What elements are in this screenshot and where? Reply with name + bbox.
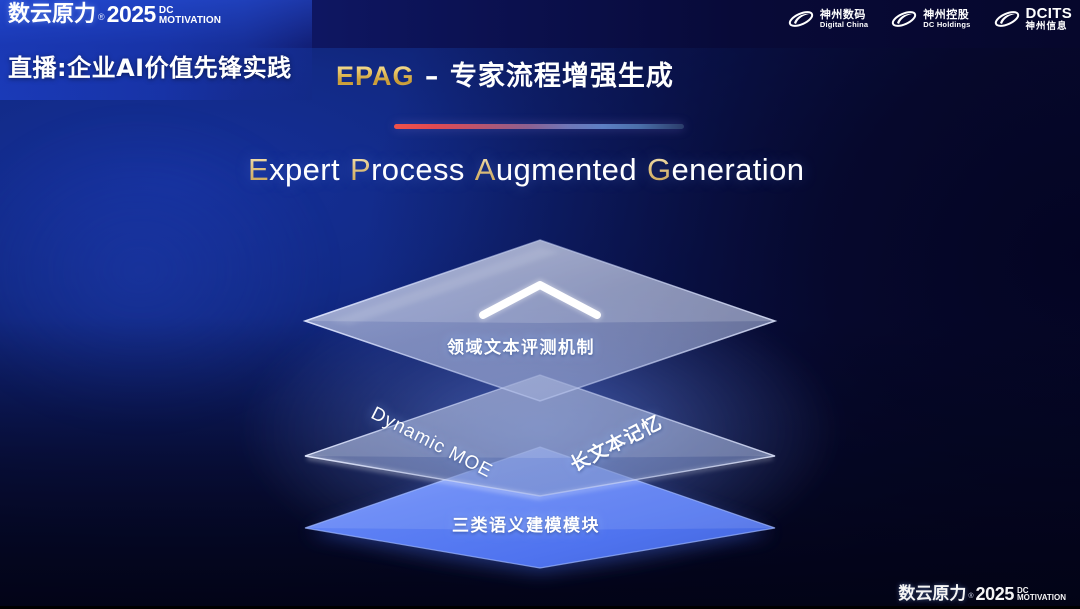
subtitle-word-1-rest: xpert (269, 152, 340, 187)
brand-logo-year: 2025 (107, 3, 156, 26)
subtitle-word-3-initial: A (475, 152, 496, 187)
subtitle-word-2-rest: rocess (371, 152, 465, 187)
subtitle-word-2-initial: P (350, 152, 371, 187)
swirl-logo-icon (890, 8, 918, 30)
subtitle-word-1-initial: E (248, 152, 269, 187)
watermark-dc-motivation: DC MOTIVATION (1017, 587, 1066, 603)
slide-canvas: 数云原力 ® 2025 DC MOTIVATION 直播:企业AI价值先锋实践 … (0, 0, 1080, 609)
page-title-acronym: EPAG (336, 61, 415, 91)
partner-logo-row: 神州数码 Digital China 神州控股 DC Holdings (787, 6, 1072, 32)
watermark-cn: 数云原力 (898, 586, 966, 603)
title-divider (394, 124, 684, 129)
partner-name-en: DCITS (1026, 6, 1073, 22)
page-title: EPAG – 专家流程增强生成 (336, 54, 674, 93)
partner-name-en: DC Holdings (923, 21, 970, 29)
brand-logo: 数云原力 ® 2025 DC MOTIVATION (8, 3, 221, 26)
swirl-logo-icon (787, 8, 815, 30)
partner-name-en: Digital China (820, 21, 868, 29)
footer-watermark-logo: 数云原力 ® 2025 DC MOTIVATION (898, 585, 1066, 603)
partner-logo-dc-holdings: 神州控股 DC Holdings (890, 8, 970, 30)
partner-logo-digital-china: 神州数码 Digital China (787, 8, 868, 30)
subtitle: ExpertProcessAugmentedGeneration (248, 152, 804, 188)
watermark-year: 2025 (976, 585, 1014, 603)
partner-name-cn: 神州数码 (820, 9, 868, 21)
watermark-registered: ® (968, 590, 973, 603)
brand-logo-cn: 数云原力 (8, 4, 96, 26)
partner-logo-text: DCITS 神州信息 (1026, 6, 1073, 32)
subtitle-word-4-initial: G (647, 152, 672, 187)
brand-logo-dc-motivation: DC MOTIVATION (159, 6, 221, 26)
partner-logo-text: 神州控股 DC Holdings (923, 9, 970, 28)
live-stream-title: 直播:企业AI价值先锋实践 (8, 48, 292, 83)
partner-logo-text: 神州数码 Digital China (820, 9, 868, 28)
watermark-dc-line2: MOTIVATION (1017, 594, 1066, 602)
partner-logo-dcits: DCITS 神州信息 (993, 6, 1073, 32)
swirl-logo-icon (993, 8, 1021, 30)
brand-logo-dc-line2: MOTIVATION (159, 16, 221, 26)
brand-logo-registered: ® (98, 9, 105, 26)
subtitle-word-3-rest: ugmented (496, 152, 637, 187)
page-title-chinese: – 专家流程增强生成 (415, 61, 674, 92)
partner-name-cn: 神州控股 (923, 9, 970, 21)
subtitle-word-4-rest: eneration (671, 152, 804, 187)
partner-name-cn: 神州信息 (1026, 22, 1073, 32)
